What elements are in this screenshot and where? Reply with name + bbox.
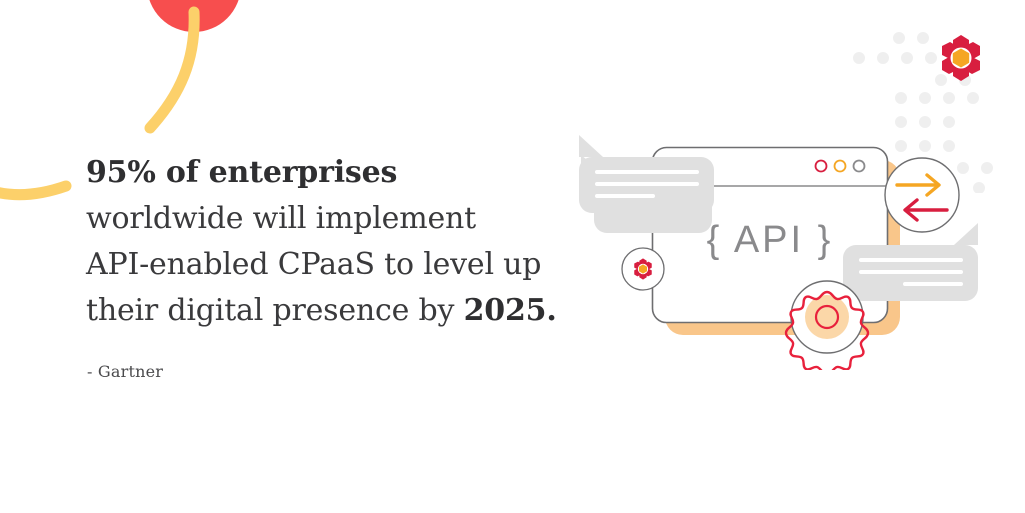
api-label: { API } (707, 219, 834, 261)
yellow-arc-top (110, 0, 240, 144)
quote-line-1: 95% of enterprises (86, 150, 606, 196)
quote-line-2-text: worldwide will implement (86, 201, 476, 236)
quote-line-2: worldwide will implement (86, 196, 606, 242)
red-semicircle-top (147, 0, 241, 32)
quote-year: 2025. (464, 293, 557, 328)
api-illustration: { API } (575, 20, 1025, 370)
yellow-arc-left (0, 150, 93, 224)
quote-line-3: API-enabled CPaaS to level up (86, 242, 606, 288)
flower-cog-badge (622, 248, 664, 290)
quote-line-1-text: 95% of enterprises (86, 155, 397, 190)
quote-line-3-text: API-enabled CPaaS to level up (86, 247, 541, 282)
gear-badge (786, 281, 868, 370)
exchange-arrows-badge (885, 158, 959, 232)
quote-line-4: their digital presence by 2025. (86, 288, 606, 334)
poster-canvas: 95% of enterprises worldwide will implem… (0, 0, 1025, 513)
quote-attribution: - Gartner (87, 362, 163, 381)
quote-line-4-text: their digital presence by (86, 293, 464, 328)
quote-text: 95% of enterprises worldwide will implem… (86, 150, 606, 334)
